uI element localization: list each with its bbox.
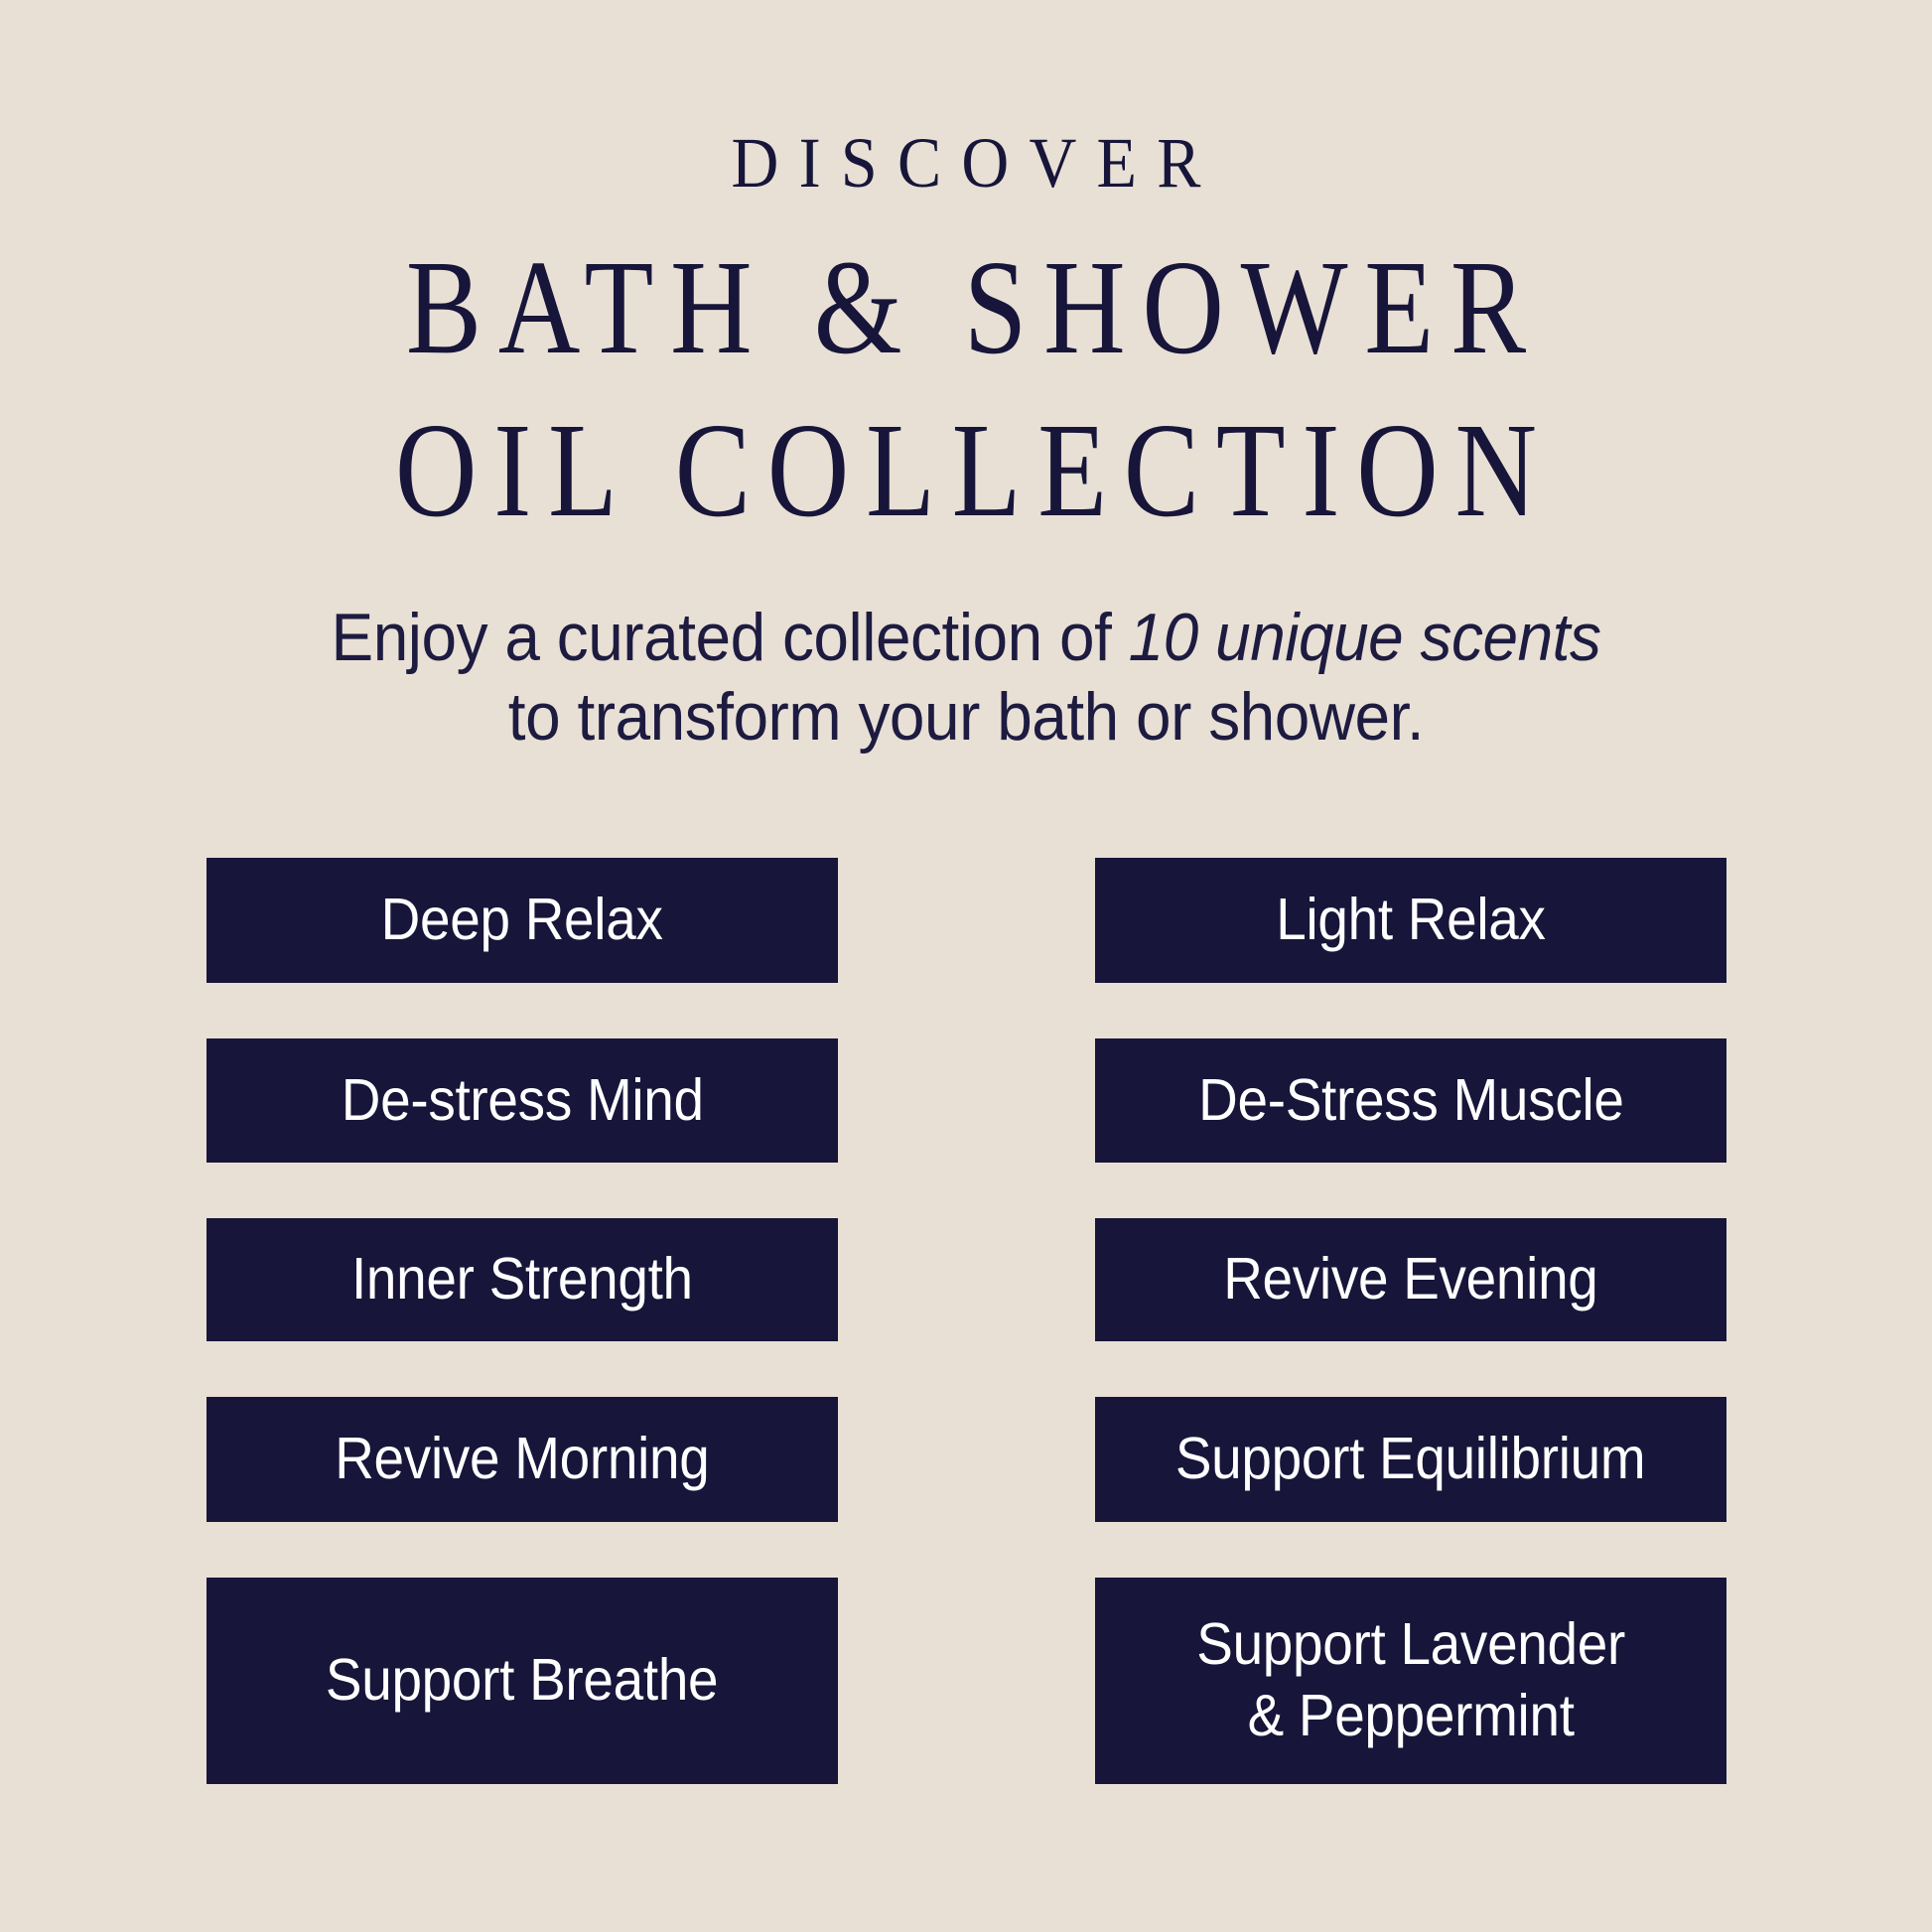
subtitle-line-2: to transform your bath or shower. <box>58 677 1873 757</box>
headline-line-2: OIL COLLECTION <box>155 375 1778 538</box>
scent-tile-support-lavender-peppermint[interactable]: Support Lavender & Peppermint <box>1095 1578 1726 1784</box>
subtitle: Enjoy a curated collection of 10 unique … <box>58 538 1873 757</box>
scent-tile-label: De-stress Mind <box>341 1065 703 1137</box>
scent-row: Inner Strength Revive Evening <box>207 1218 1726 1341</box>
scent-tile-label: Revive Evening <box>1223 1244 1597 1315</box>
scent-row: Deep Relax Light Relax <box>207 858 1726 983</box>
scent-tile-de-stress-muscle[interactable]: De-Stress Muscle <box>1095 1038 1726 1163</box>
promo-page: DISCOVER BATH & SHOWER OIL COLLECTION En… <box>0 0 1932 1932</box>
page-title: BATH & SHOWER OIL COLLECTION <box>155 199 1778 538</box>
scent-tile-label: Deep Relax <box>381 885 663 956</box>
scent-tile-label: Light Relax <box>1276 885 1545 956</box>
scent-tile-label: Inner Strength <box>351 1244 693 1315</box>
scent-row: Revive Morning Support Equilibrium <box>207 1397 1726 1522</box>
scent-tile-label: De-Stress Muscle <box>1198 1065 1623 1137</box>
scent-row: De-stress Mind De-Stress Muscle <box>207 1038 1726 1163</box>
scent-tile-inner-strength[interactable]: Inner Strength <box>207 1218 838 1341</box>
scent-tile-deep-relax[interactable]: Deep Relax <box>207 858 838 983</box>
headline-line-1: BATH & SHOWER <box>406 233 1543 382</box>
scent-tile-label: Support Equilibrium <box>1175 1424 1646 1495</box>
scent-row: Support Breathe Support Lavender & Peppe… <box>207 1578 1726 1784</box>
scent-tile-support-equilibrium[interactable]: Support Equilibrium <box>1095 1397 1726 1522</box>
scent-tile-revive-morning[interactable]: Revive Morning <box>207 1397 838 1522</box>
scent-tile-light-relax[interactable]: Light Relax <box>1095 858 1726 983</box>
scent-tile-label: Support Breathe <box>326 1645 718 1717</box>
scent-tile-label: Revive Morning <box>335 1424 709 1495</box>
scent-tile-support-breathe[interactable]: Support Breathe <box>207 1578 838 1784</box>
header-block: DISCOVER BATH & SHOWER OIL COLLECTION En… <box>0 0 1932 757</box>
scent-tile-de-stress-mind[interactable]: De-stress Mind <box>207 1038 838 1163</box>
scent-tile-label: Support Lavender & Peppermint <box>1196 1609 1625 1752</box>
scent-grid: Deep Relax Light Relax De-stress Mind De… <box>207 858 1726 1784</box>
eyebrow-text: DISCOVER <box>77 0 1855 199</box>
subtitle-prefix: Enjoy a curated collection of <box>332 600 1129 675</box>
subtitle-line-1: Enjoy a curated collection of 10 unique … <box>58 598 1873 677</box>
subtitle-emphasis: 10 unique scents <box>1129 600 1601 675</box>
scent-tile-revive-evening[interactable]: Revive Evening <box>1095 1218 1726 1341</box>
